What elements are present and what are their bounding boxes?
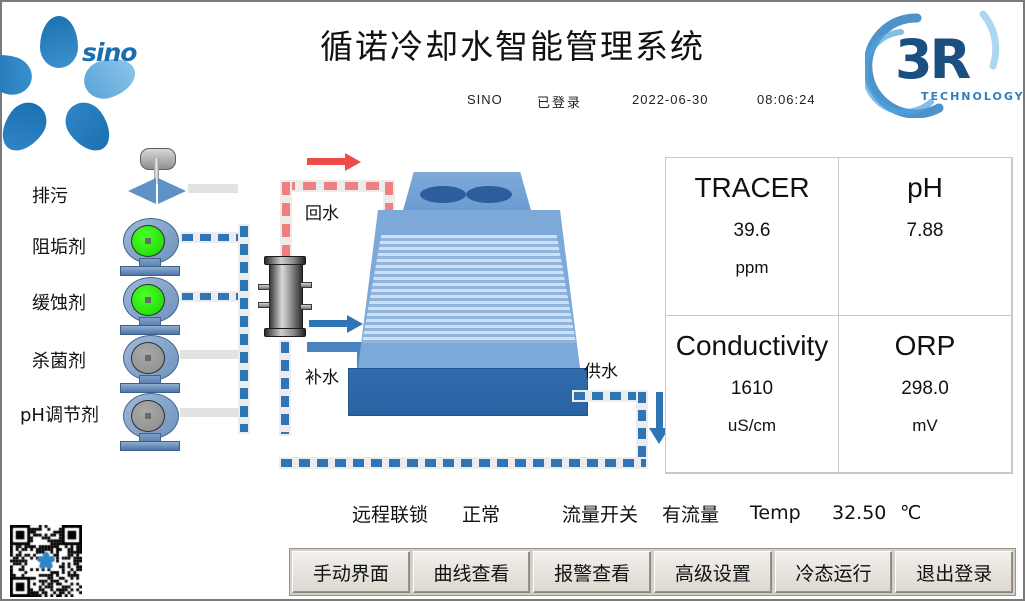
measurement-cell-ph[interactable]: pH 7.88 (838, 157, 1012, 316)
measurement-name: pH (907, 172, 943, 204)
measurement-unit: uS/cm (728, 416, 776, 436)
advanced-settings-button[interactable]: 高级设置 (654, 551, 772, 593)
cooling-tower-basin (348, 368, 588, 416)
dosing-line-ph (180, 408, 244, 417)
measurement-unit: mV (912, 416, 938, 436)
system-date: 2022-06-30 (632, 92, 709, 107)
cold-start-button[interactable]: 冷态运行 (775, 551, 893, 593)
makeup-water-label: 补水 (305, 363, 339, 388)
temperature-unit: ℃ (900, 502, 921, 524)
remote-interlock-label: 远程联锁 (352, 500, 462, 527)
equipment-label-corrosion-inhibitor: 缓蚀剂 (32, 289, 86, 315)
makeup-flow-arrow-line (309, 320, 347, 327)
measurement-value: 7.88 (907, 220, 944, 242)
pump-base-icon (120, 383, 180, 393)
measurement-unit: ppm (735, 258, 768, 278)
measurement-value: 1610 (731, 378, 773, 400)
user-name: SINO (467, 92, 503, 107)
login-status: 已登录 (537, 92, 582, 111)
equipment-label-antiscalant: 阻垢剂 (32, 233, 86, 259)
makeup-flow-arrow-head (347, 315, 363, 333)
pump-base-icon (120, 441, 180, 451)
measurement-cell-conductivity[interactable]: Conductivity 1610 uS/cm (665, 315, 839, 474)
logout-button[interactable]: 退出登录 (895, 551, 1013, 593)
measurement-panel: TRACER 39.6 ppm pH 7.88 Conductivity 161… (665, 157, 1013, 474)
temperature-label: Temp (750, 502, 832, 524)
flow-switch-value: 有流量 (662, 500, 750, 527)
dosing-line-corrosion (182, 293, 242, 300)
curve-view-button[interactable]: 曲线查看 (413, 551, 531, 593)
valve-body-left-icon (128, 178, 156, 204)
hx-nozzle-lower-icon (300, 304, 312, 310)
left-riser-pipe (240, 226, 248, 432)
pump-status-led (131, 225, 165, 257)
header: sino 循诺冷却水智能管理系统 SINO 已登录 2022-06-30 08:… (2, 2, 1023, 122)
remote-interlock-value: 正常 (462, 500, 562, 527)
pump-base-icon (120, 325, 180, 335)
cooling-tower-fill-icon (362, 235, 576, 343)
status-bar: 远程联锁 正常 流量开关 有流量 Temp 32.50 ℃ (352, 499, 1012, 527)
measurement-name: Conductivity (676, 330, 829, 362)
equipment-label-biocide: 杀菌剂 (32, 347, 86, 373)
dosing-pump-corrosion-inhibitor[interactable] (120, 277, 180, 335)
measurement-name: ORP (895, 330, 956, 362)
pump-status-led (131, 400, 165, 432)
dosing-line-antiscalant (182, 234, 242, 241)
measurement-cell-tracer[interactable]: TRACER 39.6 ppm (665, 157, 839, 316)
blowdown-pipe (188, 184, 238, 193)
loop-bottom-pipe (281, 459, 646, 467)
hx-shell-icon (269, 264, 303, 330)
flow-switch-label: 流量开关 (562, 500, 662, 527)
valve-body-right-icon (158, 178, 186, 204)
fan-blade-right-icon (466, 186, 512, 203)
return-water-pipe-top (282, 182, 393, 190)
pump-status-led (131, 284, 165, 316)
equipment-label-ph-adjuster: pH调节剂 (20, 401, 99, 427)
return-flow-arrow-line (307, 158, 345, 165)
blowdown-valve[interactable] (124, 148, 190, 200)
3r-logo-subtitle: TECHNOLOGY (921, 90, 1025, 103)
supply-flow-arrow-line (656, 392, 663, 430)
dosing-pump-antiscalant[interactable] (120, 218, 180, 276)
hx-nozzle-left-upper-icon (258, 284, 270, 290)
pump-status-led (131, 342, 165, 374)
bottom-button-bar: 手动界面 曲线查看 报警查看 高级设置 冷态运行 退出登录 (289, 548, 1016, 596)
return-flow-arrow-head (345, 153, 361, 171)
heat-exchanger[interactable] (264, 254, 306, 340)
equipment-label-blowdown: 排污 (32, 182, 68, 208)
measurement-cell-orp[interactable]: ORP 298.0 mV (838, 315, 1012, 474)
hx-bottom-cap-icon (264, 328, 306, 337)
return-water-pipe-right (385, 182, 393, 212)
hmi-screen: sino 循诺冷却水智能管理系统 SINO 已登录 2022-06-30 08:… (0, 0, 1025, 601)
dosing-pump-ph-adjuster[interactable] (120, 393, 180, 451)
dosing-line-biocide (180, 350, 244, 359)
alarm-view-button[interactable]: 报警查看 (533, 551, 651, 593)
pump-base-icon (120, 266, 180, 276)
dosing-pump-biocide[interactable] (120, 335, 180, 393)
measurement-value: 39.6 (734, 220, 771, 242)
hx-outlet-pipe (281, 342, 289, 434)
qr-code[interactable] (10, 525, 82, 597)
hx-nozzle-left-lower-icon (258, 302, 270, 308)
temperature-value: 32.50 (832, 502, 900, 524)
supply-water-pipe-right (638, 392, 646, 466)
measurement-value: 298.0 (901, 378, 949, 400)
3r-technology-logo: 3R TECHNOLOGY (865, 6, 1017, 118)
3r-logo-text: 3R (895, 28, 968, 91)
cooling-tower-fan-housing (402, 172, 532, 214)
return-water-label: 回水 (305, 199, 339, 224)
manual-interface-button[interactable]: 手动界面 (292, 551, 410, 593)
hx-nozzle-upper-icon (300, 282, 312, 288)
supply-water-label: 供水 (584, 357, 618, 382)
fan-blade-left-icon (420, 186, 466, 203)
system-time: 08:06:24 (757, 92, 816, 107)
measurement-name: TRACER (694, 172, 809, 204)
